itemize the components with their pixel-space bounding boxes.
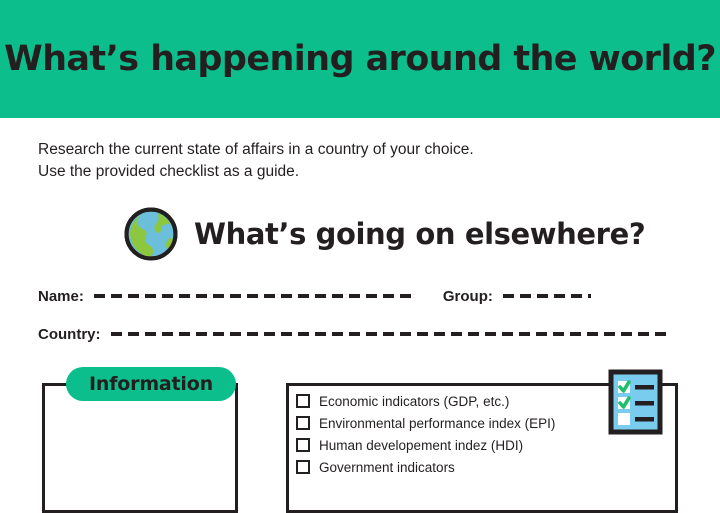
country-input-line[interactable] <box>111 332 672 336</box>
intro-line-2: Use the provided checklist as a guide. <box>38 161 474 183</box>
information-pill-text: Information <box>89 373 213 395</box>
intro-line-1: Research the current state of affairs in… <box>38 139 474 161</box>
page-title: What’s happening around the world? <box>4 39 716 79</box>
group-label: Group: <box>443 288 493 305</box>
group-input-line[interactable] <box>503 294 591 298</box>
list-item-label: Economic indicators (GDP, etc.) <box>319 394 509 409</box>
list-item[interactable]: Government indicators <box>296 456 626 478</box>
list-item[interactable]: Economic indicators (GDP, etc.) <box>296 390 626 412</box>
intro-paragraph: Research the current state of affairs in… <box>38 139 474 183</box>
information-pill-label: Information <box>66 367 236 401</box>
name-input-line[interactable] <box>94 294 417 298</box>
list-item-label: Government indicators <box>319 460 455 475</box>
list-item[interactable]: Environmental performance index (EPI) <box>296 412 626 434</box>
checklist-items: Economic indicators (GDP, etc.) Environm… <box>296 390 626 478</box>
information-panel <box>42 383 238 513</box>
checkbox-government-indicators[interactable] <box>296 460 310 474</box>
subheading-title: What’s going on elsewhere? <box>194 217 645 251</box>
checkbox-economic-indicators[interactable] <box>296 394 310 408</box>
globe-americas-icon <box>122 205 180 263</box>
name-group-row: Name: Group: <box>38 286 698 306</box>
page-header-banner: What’s happening around the world? <box>0 0 720 118</box>
list-item[interactable]: Human developement indez (HDI) <box>296 434 626 456</box>
country-row: Country: <box>38 324 698 344</box>
subheading-row: What’s going on elsewhere? <box>122 205 645 263</box>
checkbox-human-development-index[interactable] <box>296 438 310 452</box>
checkbox-environmental-performance-index[interactable] <box>296 416 310 430</box>
list-item-label: Environmental performance index (EPI) <box>319 416 555 431</box>
list-item-label: Human developement indez (HDI) <box>319 438 523 453</box>
name-label: Name: <box>38 288 84 305</box>
checklist-clipboard-icon <box>608 369 663 435</box>
country-label: Country: <box>38 326 101 343</box>
